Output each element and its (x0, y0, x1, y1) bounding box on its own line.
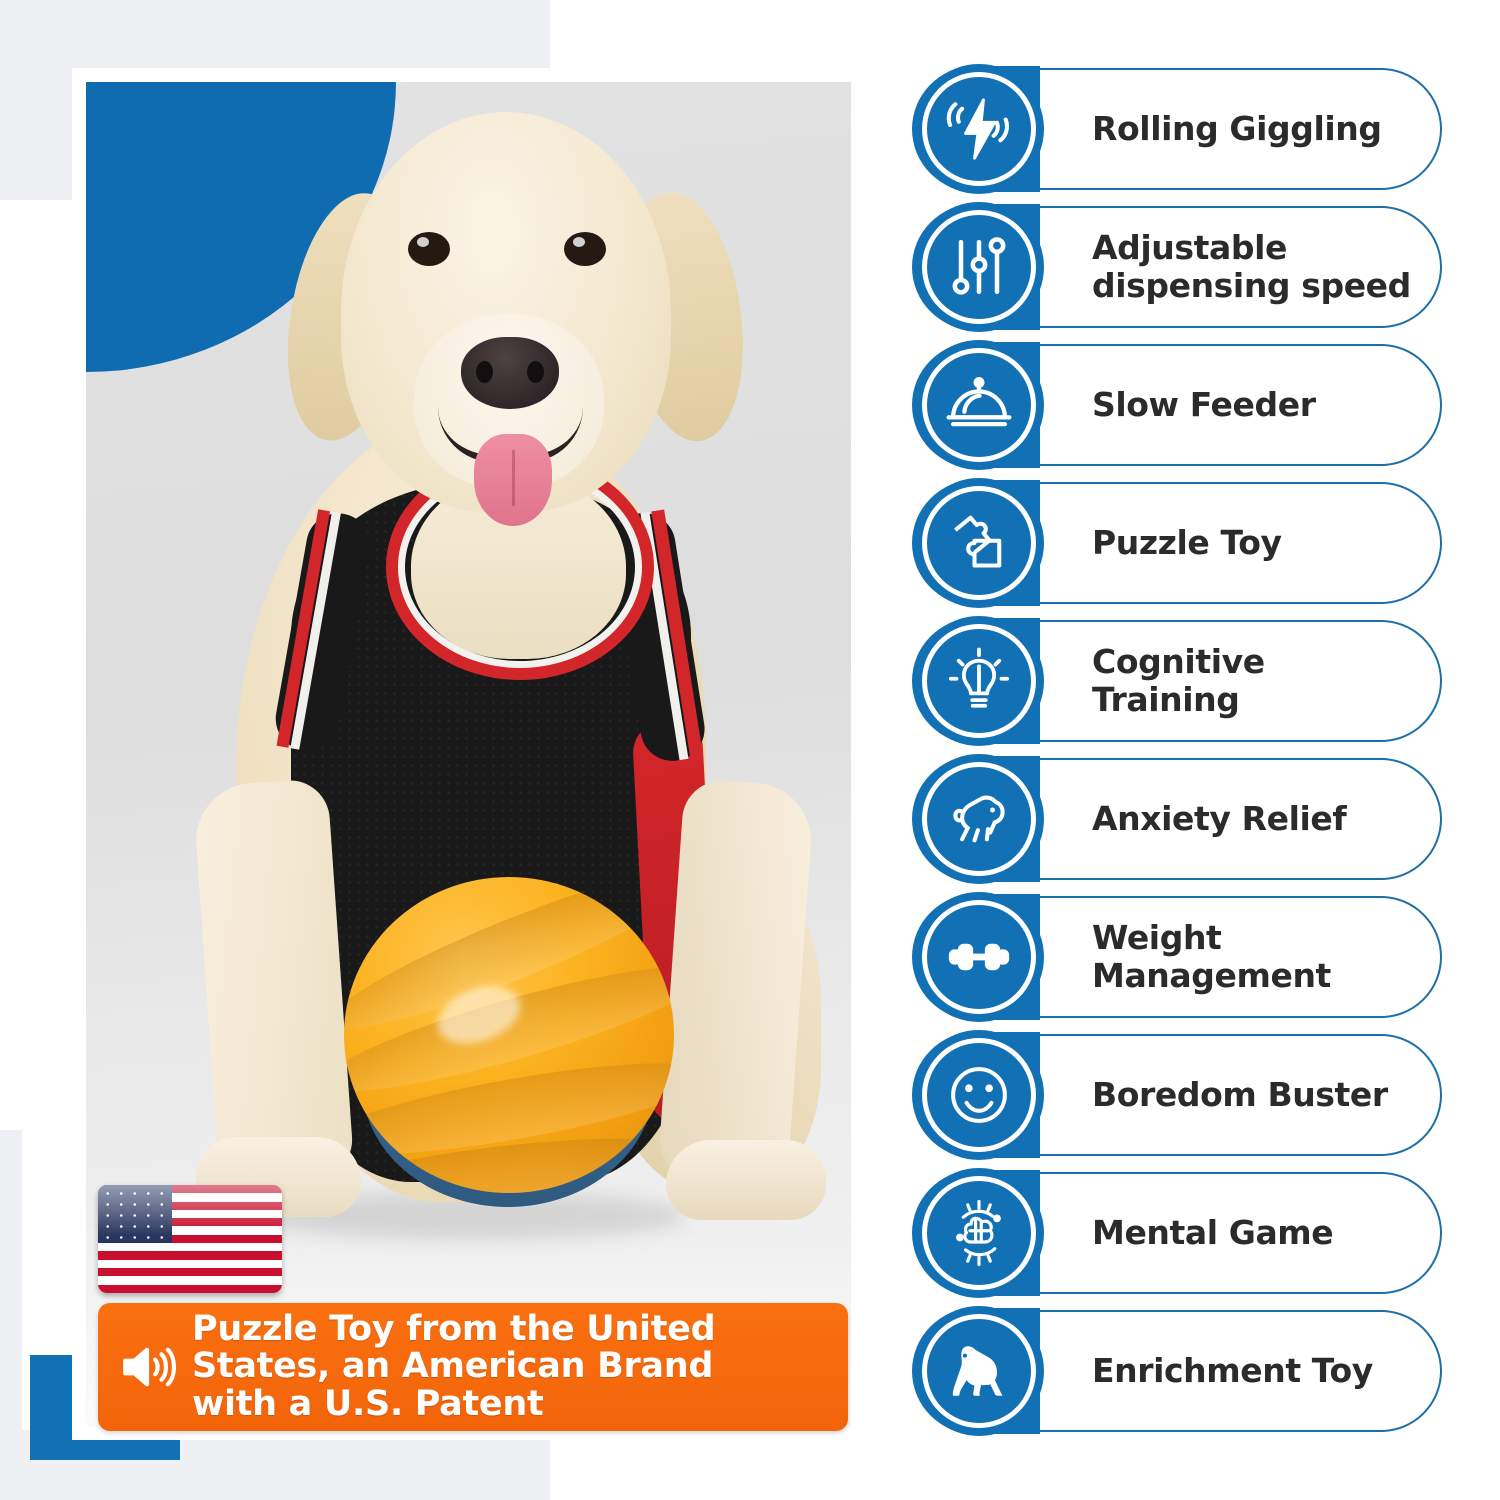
feature-item[interactable]: Enrichment Toy (912, 1308, 1442, 1434)
patent-banner-text: Puzzle Toy from the United States, an Am… (192, 1311, 715, 1423)
united-states-flag-icon (98, 1185, 282, 1293)
feature-item[interactable]: Rolling Giggling (912, 66, 1442, 192)
patent-banner-line-1: Puzzle Toy from the United (192, 1311, 715, 1348)
patent-banner-line-3: with a U.S. Patent (192, 1386, 715, 1423)
feature-item[interactable]: Slow Feeder (912, 342, 1442, 468)
feature-item[interactable]: Mental Game (912, 1170, 1442, 1296)
feature-item[interactable]: Puzzle Toy (912, 480, 1442, 606)
feature-item[interactable]: WeightManagement (912, 894, 1442, 1020)
feature-list: Rolling Giggling Adjustabledispensing sp… (912, 66, 1442, 1446)
patent-banner: Puzzle Toy from the United States, an Am… (98, 1303, 848, 1431)
feature-item[interactable]: Anxiety Relief (912, 756, 1442, 882)
background-strip-left (0, 1130, 22, 1500)
feature-item[interactable]: Boredom Buster (912, 1032, 1442, 1158)
speaker-announcement-icon (118, 1338, 176, 1396)
patent-banner-line-2: States, an American Brand (192, 1348, 715, 1385)
puzzle-ball-toy (344, 877, 674, 1207)
feature-item[interactable]: Cognitive Training (912, 618, 1442, 744)
feature-item[interactable]: Adjustabledispensing speed (912, 204, 1442, 330)
